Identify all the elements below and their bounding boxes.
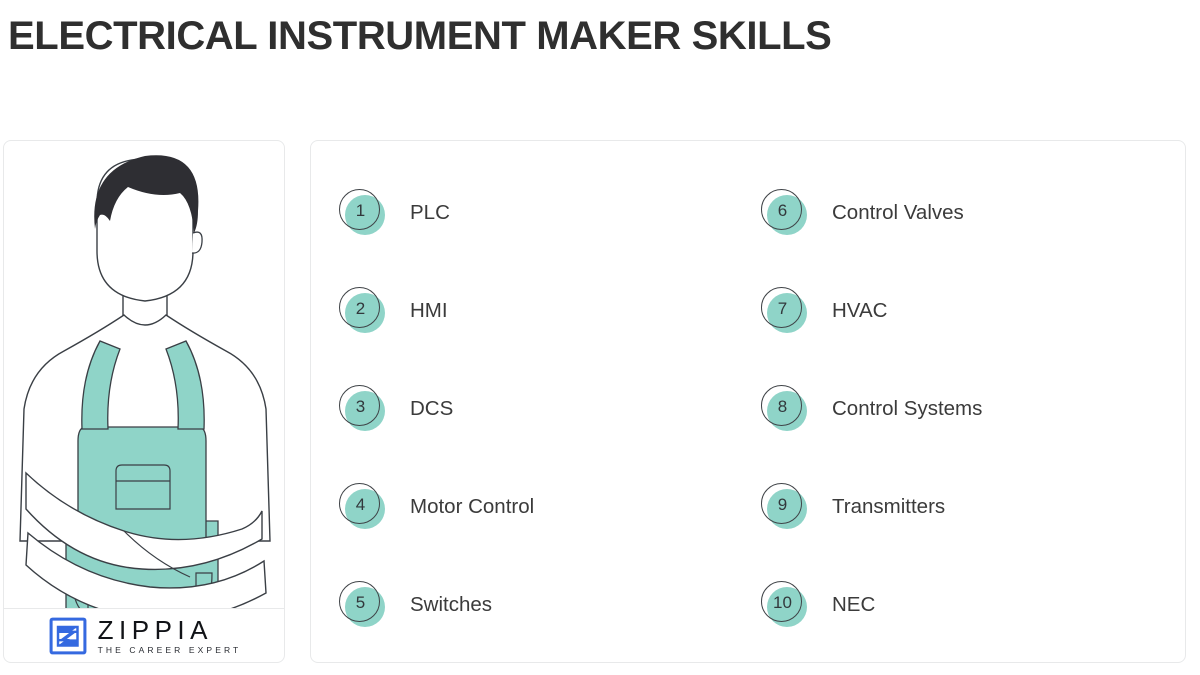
badge-number: 4 xyxy=(339,483,382,526)
skill-item-3[interactable]: 3 DCS xyxy=(339,385,453,433)
skills-column-left: 1 PLC 2 HMI 3 xyxy=(339,141,769,664)
skill-number-badge: 6 xyxy=(761,189,809,237)
badge-number: 8 xyxy=(761,385,804,428)
zippia-tagline: THE CAREER EXPERT xyxy=(98,645,242,655)
badge-number: 3 xyxy=(339,385,382,428)
zippia-z-mark xyxy=(49,617,87,655)
skill-number-badge: 1 xyxy=(339,189,387,237)
page-title: ELECTRICAL INSTRUMENT MAKER SKILLS xyxy=(8,14,831,59)
skill-item-8[interactable]: 8 Control Systems xyxy=(761,385,982,433)
skill-item-4[interactable]: 4 Motor Control xyxy=(339,483,534,531)
badge-number: 6 xyxy=(761,189,804,232)
illustration-card: ZIPPIA THE CAREER EXPERT xyxy=(3,140,285,663)
skill-item-5[interactable]: 5 Switches xyxy=(339,581,492,629)
skill-item-1[interactable]: 1 PLC xyxy=(339,189,450,237)
zippia-logo: ZIPPIA THE CAREER EXPERT xyxy=(4,609,285,663)
skill-item-10[interactable]: 10 NEC xyxy=(761,581,875,629)
skills-grid: 1 PLC 2 HMI 3 xyxy=(311,141,1187,664)
skills-card: 1 PLC 2 HMI 3 xyxy=(310,140,1186,663)
skill-number-badge: 7 xyxy=(761,287,809,335)
skill-label: DCS xyxy=(410,399,453,420)
zippia-wordmark: ZIPPIA xyxy=(98,617,213,644)
skill-number-badge: 4 xyxy=(339,483,387,531)
skill-item-9[interactable]: 9 Transmitters xyxy=(761,483,945,531)
skill-label: PLC xyxy=(410,203,450,224)
skill-number-badge: 10 xyxy=(761,581,809,629)
badge-number: 7 xyxy=(761,287,804,330)
skills-column-right: 6 Control Valves 7 HVAC xyxy=(761,141,1191,664)
skill-number-badge: 3 xyxy=(339,385,387,433)
skill-item-7[interactable]: 7 HVAC xyxy=(761,287,887,335)
skill-label: NEC xyxy=(832,595,875,616)
badge-number: 10 xyxy=(761,581,804,624)
skill-number-badge: 8 xyxy=(761,385,809,433)
skill-label: HMI xyxy=(410,301,448,322)
skill-label: Motor Control xyxy=(410,497,534,518)
skill-item-6[interactable]: 6 Control Valves xyxy=(761,189,964,237)
skill-number-badge: 9 xyxy=(761,483,809,531)
worker-illustration xyxy=(4,141,285,663)
skill-label: Control Systems xyxy=(832,399,982,420)
infographic-page: ELECTRICAL INSTRUMENT MAKER SKILLS xyxy=(0,0,1200,675)
badge-number: 2 xyxy=(339,287,382,330)
skill-number-badge: 5 xyxy=(339,581,387,629)
badge-number: 9 xyxy=(761,483,804,526)
skill-label: Control Valves xyxy=(832,203,964,224)
skill-label: HVAC xyxy=(832,301,887,322)
badge-number: 1 xyxy=(339,189,382,232)
skill-number-badge: 2 xyxy=(339,287,387,335)
skill-label: Switches xyxy=(410,595,492,616)
skill-label: Transmitters xyxy=(832,497,945,518)
skill-item-2[interactable]: 2 HMI xyxy=(339,287,448,335)
badge-number: 5 xyxy=(339,581,382,624)
